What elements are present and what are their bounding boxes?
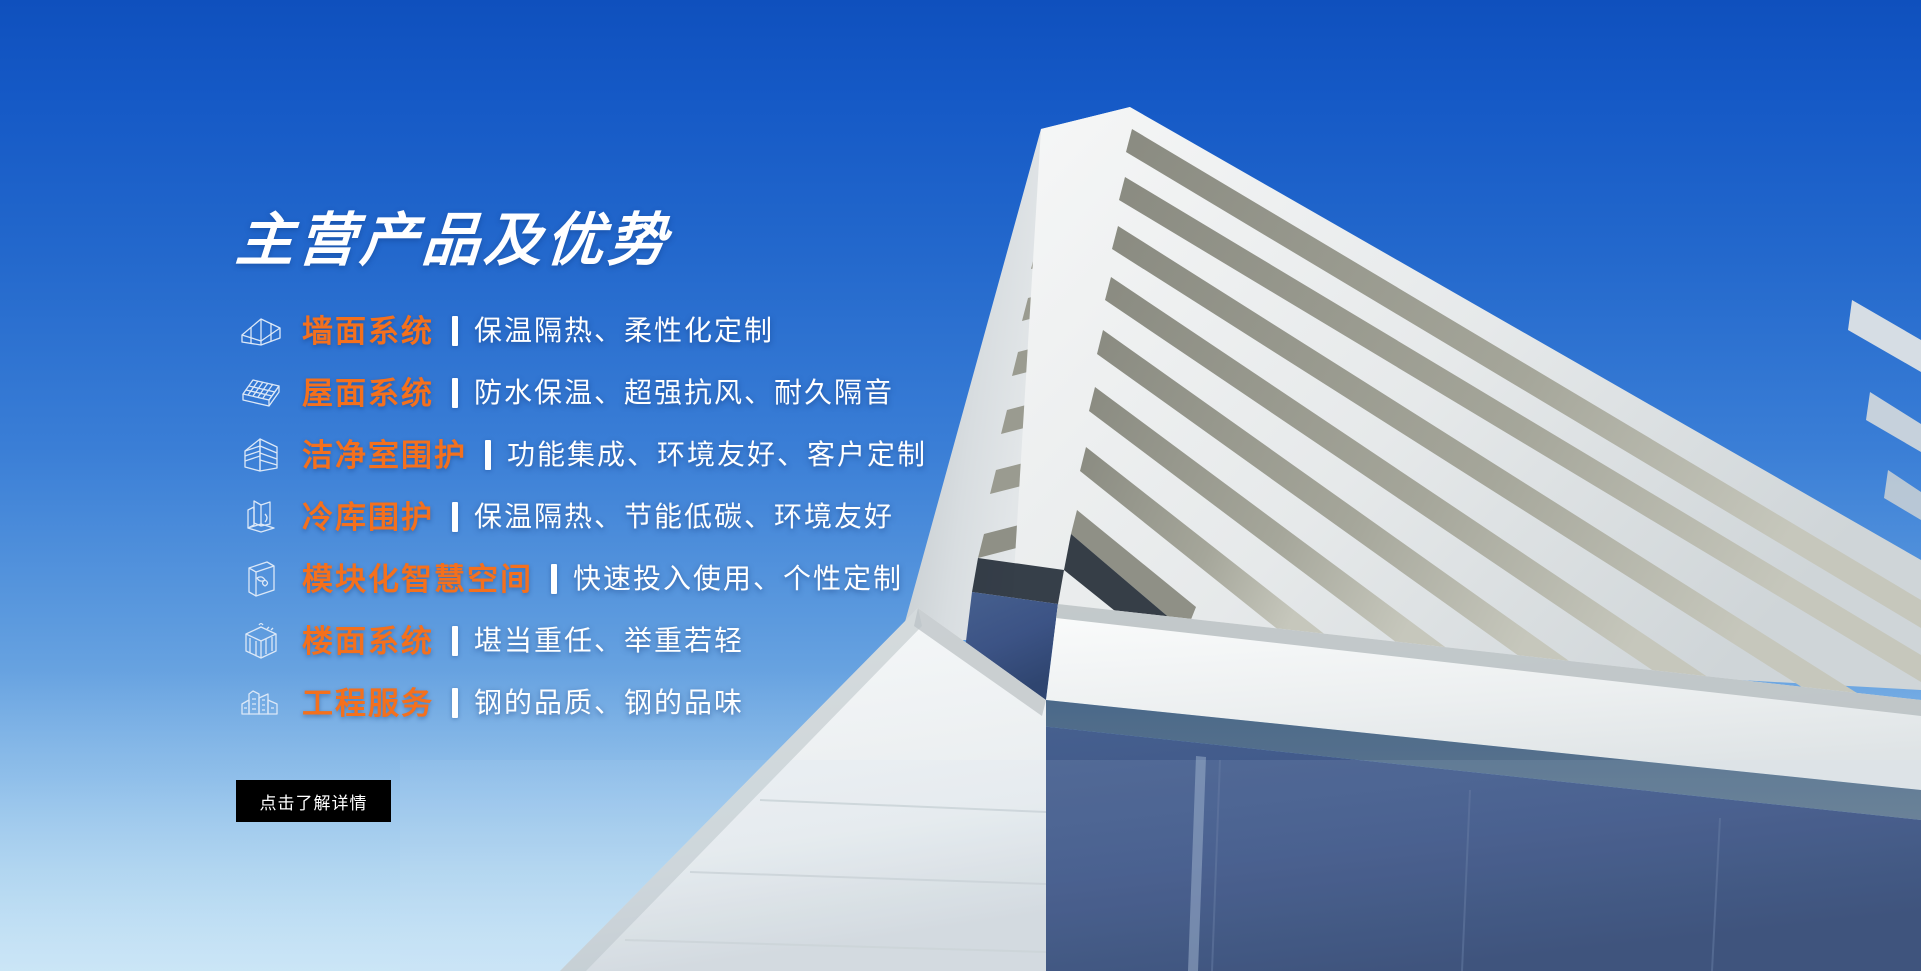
feature-title: 洁净室围护 [302,440,467,471]
right-wing-slivers [1848,300,1921,520]
list-item[interactable]: 工程服务 钢的品质、钢的品味 [232,672,1212,734]
feature-separator [452,626,458,656]
feature-separator [485,440,491,470]
feature-title: 墙面系统 [302,316,434,347]
feature-separator [452,688,458,718]
feature-description: 功能集成、环境友好、客户定制 [507,441,927,469]
feature-separator [551,564,557,594]
roof-system-icon [232,369,290,417]
feature-description: 保温隔热、节能低碳、环境友好 [474,503,894,531]
hero-content: 主营产品及优势 墙面系统 保温隔热、柔性化定制 [232,0,1212,971]
modular-space-icon [232,555,290,603]
list-item[interactable]: 屋面系统 防水保温、超强抗风、耐久隔音 [232,362,1212,424]
list-item[interactable]: 模块化智慧空间 快速投入使用、个性定制 [232,548,1212,610]
cleanroom-icon [232,431,290,479]
floor-system-icon [232,617,290,665]
engineering-service-icon [232,679,290,727]
feature-description: 钢的品质、钢的品味 [474,689,744,717]
cold-storage-icon [232,493,290,541]
feature-description: 保温隔热、柔性化定制 [474,317,774,345]
feature-separator [452,502,458,532]
list-item[interactable]: 洁净室围护 功能集成、环境友好、客户定制 [232,424,1212,486]
feature-description: 防水保温、超强抗风、耐久隔音 [474,379,894,407]
learn-more-button[interactable]: 点击了解详情 [236,780,391,822]
page-title: 主营产品及优势 [234,212,672,270]
feature-separator [452,316,458,346]
list-item[interactable]: 楼面系统 堪当重任、举重若轻 [232,610,1212,672]
feature-title: 屋面系统 [302,378,434,409]
feature-title: 工程服务 [302,688,434,719]
list-item[interactable]: 墙面系统 保温隔热、柔性化定制 [232,300,1212,362]
feature-title: 楼面系统 [302,626,434,657]
list-item[interactable]: 冷库围护 保温隔热、节能低碳、环境友好 [232,486,1212,548]
feature-description: 堪当重任、举重若轻 [474,627,744,655]
hero-banner: 主营产品及优势 墙面系统 保温隔热、柔性化定制 [0,0,1921,971]
feature-description: 快速投入使用、个性定制 [573,565,903,593]
feature-title: 模块化智慧空间 [302,564,533,595]
feature-separator [452,378,458,408]
feature-list: 墙面系统 保温隔热、柔性化定制 屋面系统 防水保温、超强抗风、 [232,300,1212,734]
feature-title: 冷库围护 [302,502,434,533]
wall-system-icon [232,307,290,355]
